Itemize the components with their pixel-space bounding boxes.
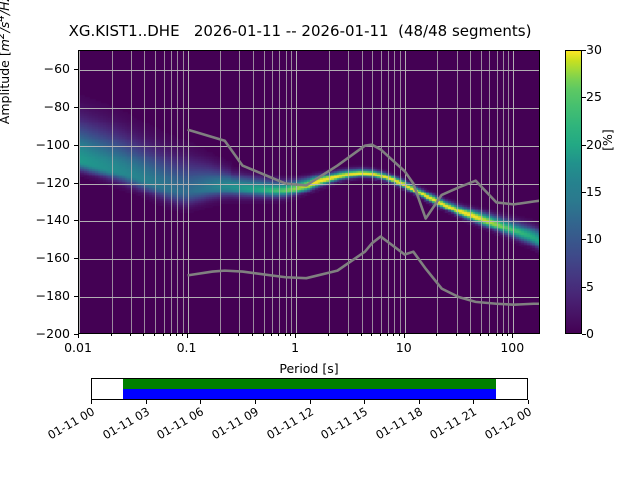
x-tick-mark bbox=[238, 334, 239, 336]
coverage-tick-label: 01-11 09 bbox=[205, 406, 261, 445]
noise-model-curves bbox=[79, 51, 540, 334]
noise-model-nlnm bbox=[188, 237, 540, 305]
x-tick-label: 100 bbox=[482, 342, 542, 355]
colorbar-tick-mark bbox=[582, 97, 586, 98]
x-tick-mark bbox=[393, 334, 394, 336]
coverage-tick-mark bbox=[310, 400, 311, 404]
noise-model-layer bbox=[79, 51, 539, 333]
colorbar-tick-mark bbox=[582, 334, 586, 335]
psd-plot-area bbox=[78, 50, 540, 334]
colorbar-tick-mark bbox=[582, 239, 586, 240]
x-tick-mark bbox=[456, 334, 457, 336]
x-tick-label: 10 bbox=[374, 342, 434, 355]
x-tick-mark bbox=[78, 334, 79, 338]
coverage-tick-label: 01-12 00 bbox=[478, 406, 534, 445]
noise-model-nhnm bbox=[188, 130, 540, 219]
coverage-tick-mark bbox=[528, 400, 529, 404]
coverage-tick-label: 01-11 18 bbox=[369, 406, 425, 445]
x-tick-label: 0.1 bbox=[157, 342, 217, 355]
x-tick-mark bbox=[371, 334, 372, 336]
x-tick-mark bbox=[271, 334, 272, 336]
x-tick-mark bbox=[496, 334, 497, 336]
y-tick-label: −100 bbox=[10, 139, 70, 152]
coverage-tick-mark bbox=[419, 400, 420, 404]
coverage-tick-label: 01-11 00 bbox=[41, 406, 97, 445]
x-tick-mark bbox=[187, 334, 188, 338]
y-tick-mark bbox=[74, 107, 78, 108]
colorbar-tick-label: 0 bbox=[586, 328, 594, 341]
x-tick-mark bbox=[295, 334, 296, 338]
y-tick-mark bbox=[74, 69, 78, 70]
y-tick-mark bbox=[74, 183, 78, 184]
x-tick-mark bbox=[163, 334, 164, 336]
x-tick-mark bbox=[143, 334, 144, 336]
coverage-tick-mark bbox=[200, 400, 201, 404]
x-tick-mark bbox=[387, 334, 388, 336]
y-tick-mark bbox=[74, 220, 78, 221]
coverage-tick-label: 01-11 03 bbox=[95, 406, 151, 445]
x-tick-mark bbox=[436, 334, 437, 336]
coverage-segment-green bbox=[123, 379, 495, 389]
x-tick-mark bbox=[399, 334, 400, 336]
x-tick-mark bbox=[285, 334, 286, 336]
y-tick-mark bbox=[74, 296, 78, 297]
x-tick-mark bbox=[507, 334, 508, 336]
x-tick-mark bbox=[380, 334, 381, 336]
y-tick-label: −180 bbox=[10, 290, 70, 303]
y-tick-mark bbox=[74, 258, 78, 259]
x-tick-label: 0.01 bbox=[48, 342, 108, 355]
colorbar-tick-mark bbox=[582, 192, 586, 193]
y-axis-label: Amplitude [m2/s4/Hz] [dB] bbox=[0, 0, 12, 192]
coverage-tick-mark bbox=[255, 400, 256, 404]
colorbar-tick-mark bbox=[582, 50, 586, 51]
coverage-tick-mark bbox=[473, 400, 474, 404]
x-tick-mark bbox=[512, 334, 513, 338]
colorbar bbox=[565, 50, 582, 334]
x-tick-mark bbox=[480, 334, 481, 336]
coverage-tick-label: 01-11 21 bbox=[423, 406, 479, 445]
colorbar-tick-label: 10 bbox=[586, 233, 602, 246]
colorbar-tick-mark bbox=[582, 145, 586, 146]
coverage-tick-label: 01-11 06 bbox=[150, 406, 206, 445]
x-tick-mark bbox=[290, 334, 291, 336]
x-tick-mark bbox=[404, 334, 405, 338]
x-tick-mark bbox=[361, 334, 362, 336]
colorbar-label: [%] bbox=[600, 100, 615, 180]
x-tick-mark bbox=[347, 334, 348, 336]
x-tick-mark bbox=[469, 334, 470, 336]
colorbar-tick-mark bbox=[582, 287, 586, 288]
coverage-tick-mark bbox=[91, 400, 92, 404]
x-tick-mark bbox=[111, 334, 112, 336]
x-tick-mark bbox=[182, 334, 183, 336]
y-tick-label: −80 bbox=[10, 101, 70, 114]
y-tick-label: −120 bbox=[10, 177, 70, 190]
page-title: XG.KIST1..DHE 2026-01-11 -- 2026-01-11 (… bbox=[0, 22, 600, 40]
y-tick-label: −140 bbox=[10, 214, 70, 227]
colorbar-tick-label: 15 bbox=[586, 186, 602, 199]
x-tick-mark bbox=[328, 334, 329, 336]
y-tick-label: −60 bbox=[10, 63, 70, 76]
coverage-tick-mark bbox=[364, 400, 365, 404]
x-tick-mark bbox=[154, 334, 155, 336]
y-tick-label: −160 bbox=[10, 252, 70, 265]
coverage-tick-label: 01-11 15 bbox=[314, 406, 370, 445]
coverage-tick-label: 01-11 12 bbox=[259, 406, 315, 445]
y-tick-label: −200 bbox=[10, 328, 70, 341]
colorbar-tick-label: 5 bbox=[586, 281, 594, 294]
x-tick-mark bbox=[278, 334, 279, 336]
x-tick-mark bbox=[252, 334, 253, 336]
x-tick-mark bbox=[502, 334, 503, 336]
x-tick-mark bbox=[488, 334, 489, 336]
x-tick-mark bbox=[170, 334, 171, 336]
y-tick-mark bbox=[74, 145, 78, 146]
coverage-tick-mark bbox=[146, 400, 147, 404]
x-tick-mark bbox=[130, 334, 131, 336]
x-tick-label: 1 bbox=[265, 342, 325, 355]
x-tick-mark bbox=[176, 334, 177, 336]
time-coverage-bar bbox=[91, 378, 528, 400]
x-tick-mark bbox=[263, 334, 264, 336]
x-tick-mark bbox=[219, 334, 220, 336]
x-axis-label: Period [s] bbox=[78, 361, 540, 376]
colorbar-tick-label: 30 bbox=[586, 44, 602, 57]
coverage-segment-blue bbox=[123, 389, 495, 399]
